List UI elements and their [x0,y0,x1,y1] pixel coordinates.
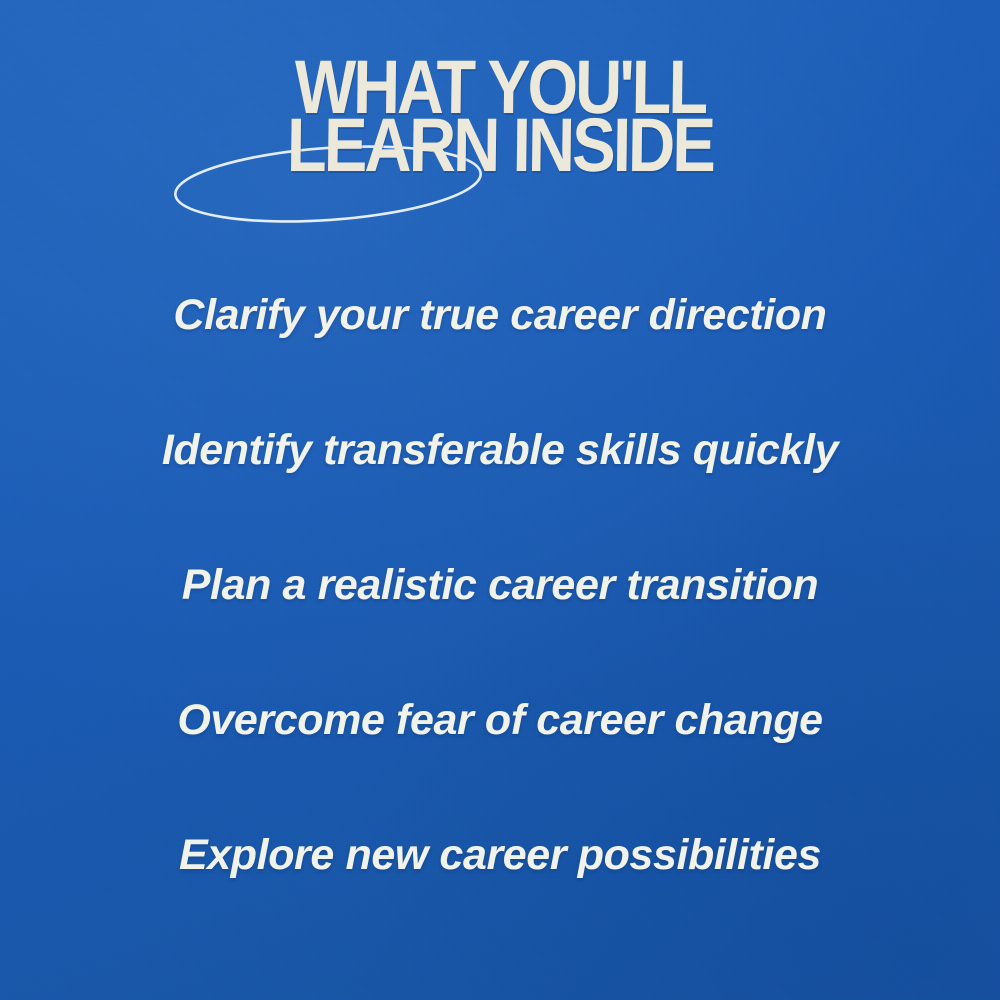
heading-block: WHAT YOU'LL LEARN INSIDE [0,44,1000,184]
list-item: Identify transferable skills quickly [0,427,1000,474]
list-item: Plan a realistic career transition [0,562,1000,609]
list-item: Overcome fear of career change [0,697,1000,744]
heading-line-2: LEARN INSIDE [70,108,931,184]
list-item: Explore new career possibilities [0,832,1000,879]
list-item: Clarify your true career direction [0,292,1000,339]
promo-slide: WHAT YOU'LL LEARN INSIDE Clarify your tr… [0,0,1000,1000]
